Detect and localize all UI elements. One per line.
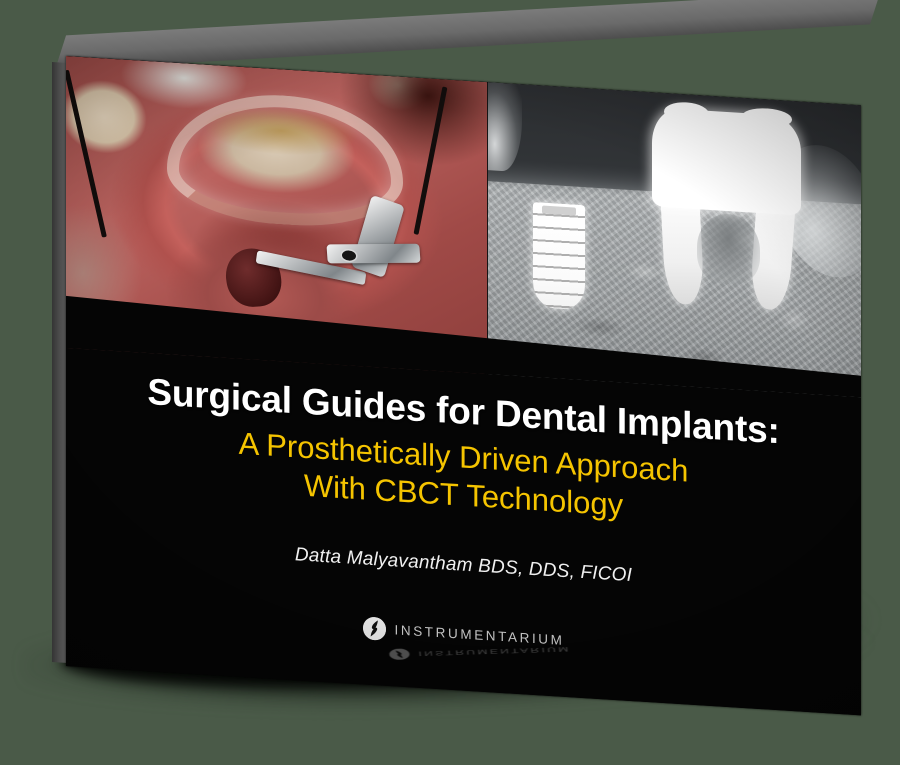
implant-threads <box>533 202 585 310</box>
book-3d-container: Surgical Guides for Dental Implants: A P… <box>0 0 900 765</box>
cover-author-name: Datta Malyavantham BDS, DDS, FICOI <box>66 530 861 601</box>
drill-guide-sleeve-bar <box>327 244 421 264</box>
xray-dental-implant <box>533 202 585 310</box>
cover-photo-strip <box>66 56 861 397</box>
book-top-edge <box>55 0 881 70</box>
book-front-cover: Surgical Guides for Dental Implants: A P… <box>66 56 861 715</box>
instrumentarium-circle-icon <box>363 616 386 640</box>
mockup-stage: Surgical Guides for Dental Implants: A P… <box>0 0 900 765</box>
brand-logo: INSTRUMENTARIUM <box>66 598 861 670</box>
molar-crown-restoration <box>652 107 801 216</box>
cover-text-block: Surgical Guides for Dental Implants: A P… <box>66 348 861 715</box>
brand-name-text: INSTRUMENTARIUM <box>395 622 565 648</box>
cover-surface: Surgical Guides for Dental Implants: A P… <box>66 56 861 715</box>
